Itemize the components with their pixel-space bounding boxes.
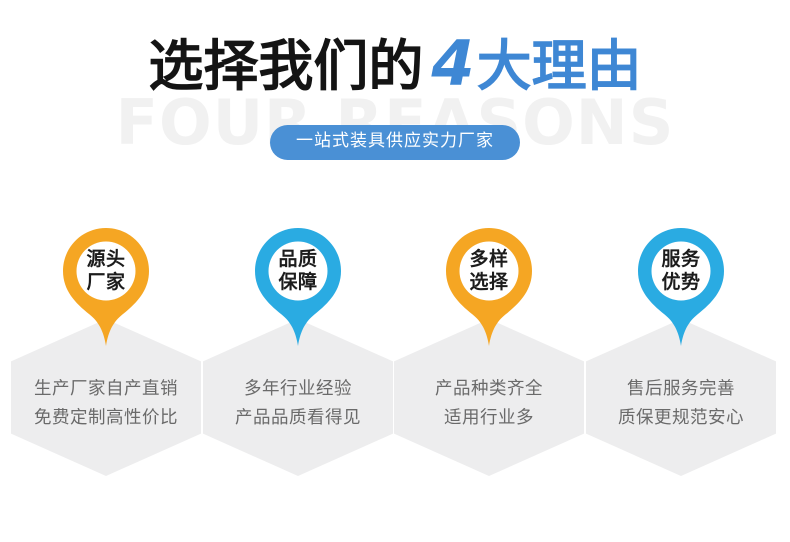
pin-label-2: 品质 保障 — [255, 248, 341, 294]
reason-description-3: 产品种类齐全 适用行业多 — [394, 375, 584, 433]
page-title-prefix: 选择我们的 — [148, 34, 423, 98]
reason-description-2-line1: 多年行业经验 — [203, 375, 393, 404]
reason-description-4-line2: 质保更规范安心 — [586, 404, 776, 433]
page-title: 选择我们的4大理由 — [0, 33, 790, 95]
reason-description-3-line1: 产品种类齐全 — [394, 375, 584, 404]
pin-label-4: 服务 优势 — [638, 248, 724, 294]
pin-label-4-line2: 优势 — [638, 271, 724, 294]
pin-label-4-line1: 服务 — [638, 248, 724, 271]
page-title-number: 4 — [423, 27, 476, 100]
pin-label-1: 源头 厂家 — [63, 248, 149, 294]
reason-description-1-line1: 生产厂家自产直销 — [11, 375, 201, 404]
subtitle-badge-container: 一站式装具供应实力厂家 — [0, 125, 790, 160]
subtitle-badge: 一站式装具供应实力厂家 — [270, 125, 520, 160]
pin-label-1-line1: 源头 — [63, 248, 149, 271]
pin-label-3-line1: 多样 — [446, 248, 532, 271]
pin-label-3-line2: 选择 — [446, 271, 532, 294]
pin-label-2-line2: 保障 — [255, 271, 341, 294]
page-title-suffix: 大理由 — [477, 34, 642, 98]
pin-label-2-line1: 品质 — [255, 248, 341, 271]
pin-label-3: 多样 选择 — [446, 248, 532, 294]
reason-description-4-line1: 售后服务完善 — [586, 375, 776, 404]
reason-description-4: 售后服务完善 质保更规范安心 — [586, 375, 776, 433]
reason-description-3-line2: 适用行业多 — [394, 404, 584, 433]
pin-label-1-line2: 厂家 — [63, 271, 149, 294]
reason-description-1-line2: 免费定制高性价比 — [11, 404, 201, 433]
reason-description-2: 多年行业经验 产品品质看得见 — [203, 375, 393, 433]
reason-description-2-line2: 产品品质看得见 — [203, 404, 393, 433]
reason-description-1: 生产厂家自产直销 免费定制高性价比 — [11, 375, 201, 433]
